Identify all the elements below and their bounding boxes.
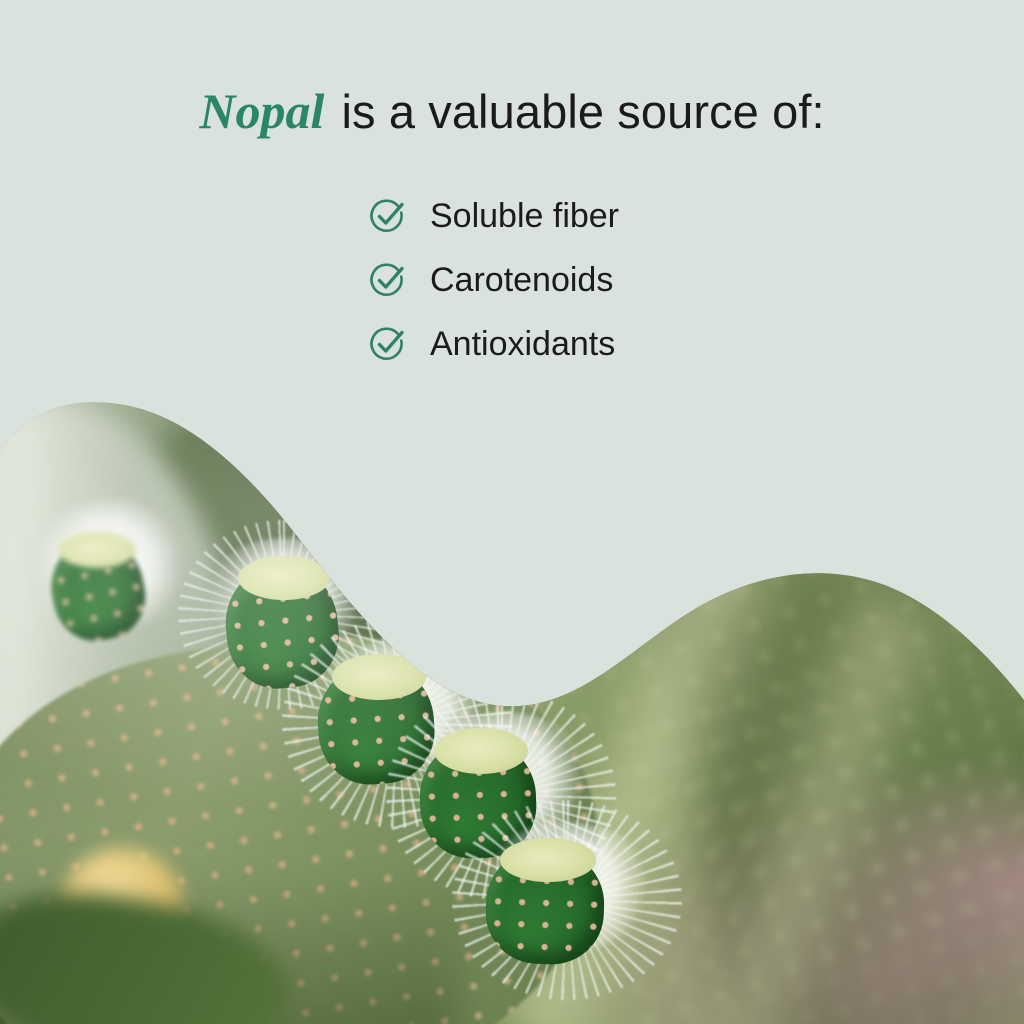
photo-bud-top	[434, 728, 528, 774]
photo-bud-top	[500, 838, 596, 882]
benefit-list: Soluble fiber Carotenoids Antioxidants	[368, 184, 788, 376]
list-item: Carotenoids	[368, 248, 788, 312]
list-item-label: Soluble fiber	[430, 199, 619, 233]
check-circle-icon	[368, 260, 408, 300]
photo-bud-top	[238, 556, 330, 600]
page-title: Nopal is a valuable source of:	[0, 84, 1024, 139]
page-title-rest: is a valuable source of:	[328, 85, 824, 138]
photo-bud-top	[332, 654, 426, 700]
list-item: Antioxidants	[368, 312, 788, 376]
list-item-label: Antioxidants	[430, 327, 615, 361]
poster-canvas: Nopal is a valuable source of: Soluble f…	[0, 0, 1024, 1024]
check-circle-icon	[368, 196, 408, 236]
cactus-photo-image	[0, 0, 1024, 1024]
check-circle-icon	[368, 324, 408, 364]
list-item: Soluble fiber	[368, 184, 788, 248]
list-item-label: Carotenoids	[430, 263, 613, 297]
brand-name: Nopal	[199, 83, 328, 139]
photo-bud-top	[58, 532, 136, 568]
cactus-photo	[0, 0, 1024, 1024]
